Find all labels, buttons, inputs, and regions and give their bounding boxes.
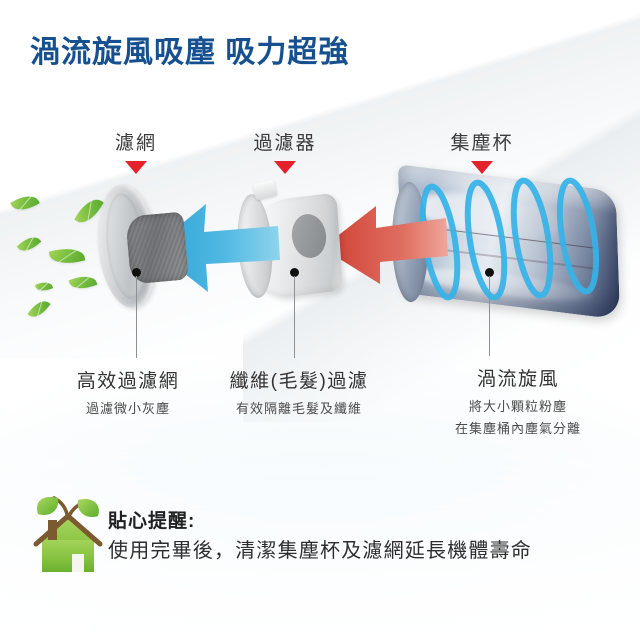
product-illustration (0, 170, 640, 340)
tip-text: 使用完畢後，清潔集塵杯及濾網延長機體壽命 (108, 534, 532, 563)
top-label-filter: 過濾器 (215, 128, 355, 174)
description-dust-cup-sub1: 將大小顆粒粉塵 (410, 397, 626, 417)
top-label-dust-cup: 集塵杯 (412, 128, 552, 174)
description-mesh-sub: 過濾微小灰塵 (48, 399, 208, 419)
description-filter-sub: 有效隔離毛髮及纖維 (206, 399, 392, 419)
description-mesh-title: 高效過濾網 (48, 366, 208, 393)
infographic-canvas: 渦流旋風吸塵 吸力超強 濾網 過濾器 集塵杯 (0, 0, 640, 640)
description-filter: 纖維(毛髮)過濾 有效隔離毛髮及纖維 (206, 366, 392, 419)
callout-line-dust-cup (489, 276, 490, 356)
description-dust-cup-title: 渦流旋風 (410, 364, 626, 391)
description-dust-cup-sub2: 在集塵桶內塵氣分離 (410, 419, 626, 439)
top-label-filter-text: 過濾器 (215, 128, 355, 155)
top-label-dust-cup-text: 集塵杯 (412, 128, 552, 155)
description-filter-title: 纖維(毛髮)過濾 (206, 366, 392, 393)
page-title: 渦流旋風吸塵 吸力超強 (30, 27, 349, 71)
top-label-mesh: 濾網 (66, 128, 206, 174)
callout-line-mesh (136, 276, 137, 358)
description-mesh: 高效過濾網 過濾微小灰塵 (48, 366, 208, 419)
footer-tip-section: 貼心提醒: 使用完畢後，清潔集塵杯及濾網延長機體壽命 (0, 490, 640, 640)
top-label-mesh-text: 濾網 (66, 128, 206, 155)
callout-line-filter (294, 276, 295, 358)
green-house-leaf-icon (28, 496, 108, 578)
tip-label: 貼心提醒: (108, 506, 195, 533)
description-dust-cup: 渦流旋風 將大小顆粒粉塵 在集塵桶內塵氣分離 (410, 364, 626, 438)
